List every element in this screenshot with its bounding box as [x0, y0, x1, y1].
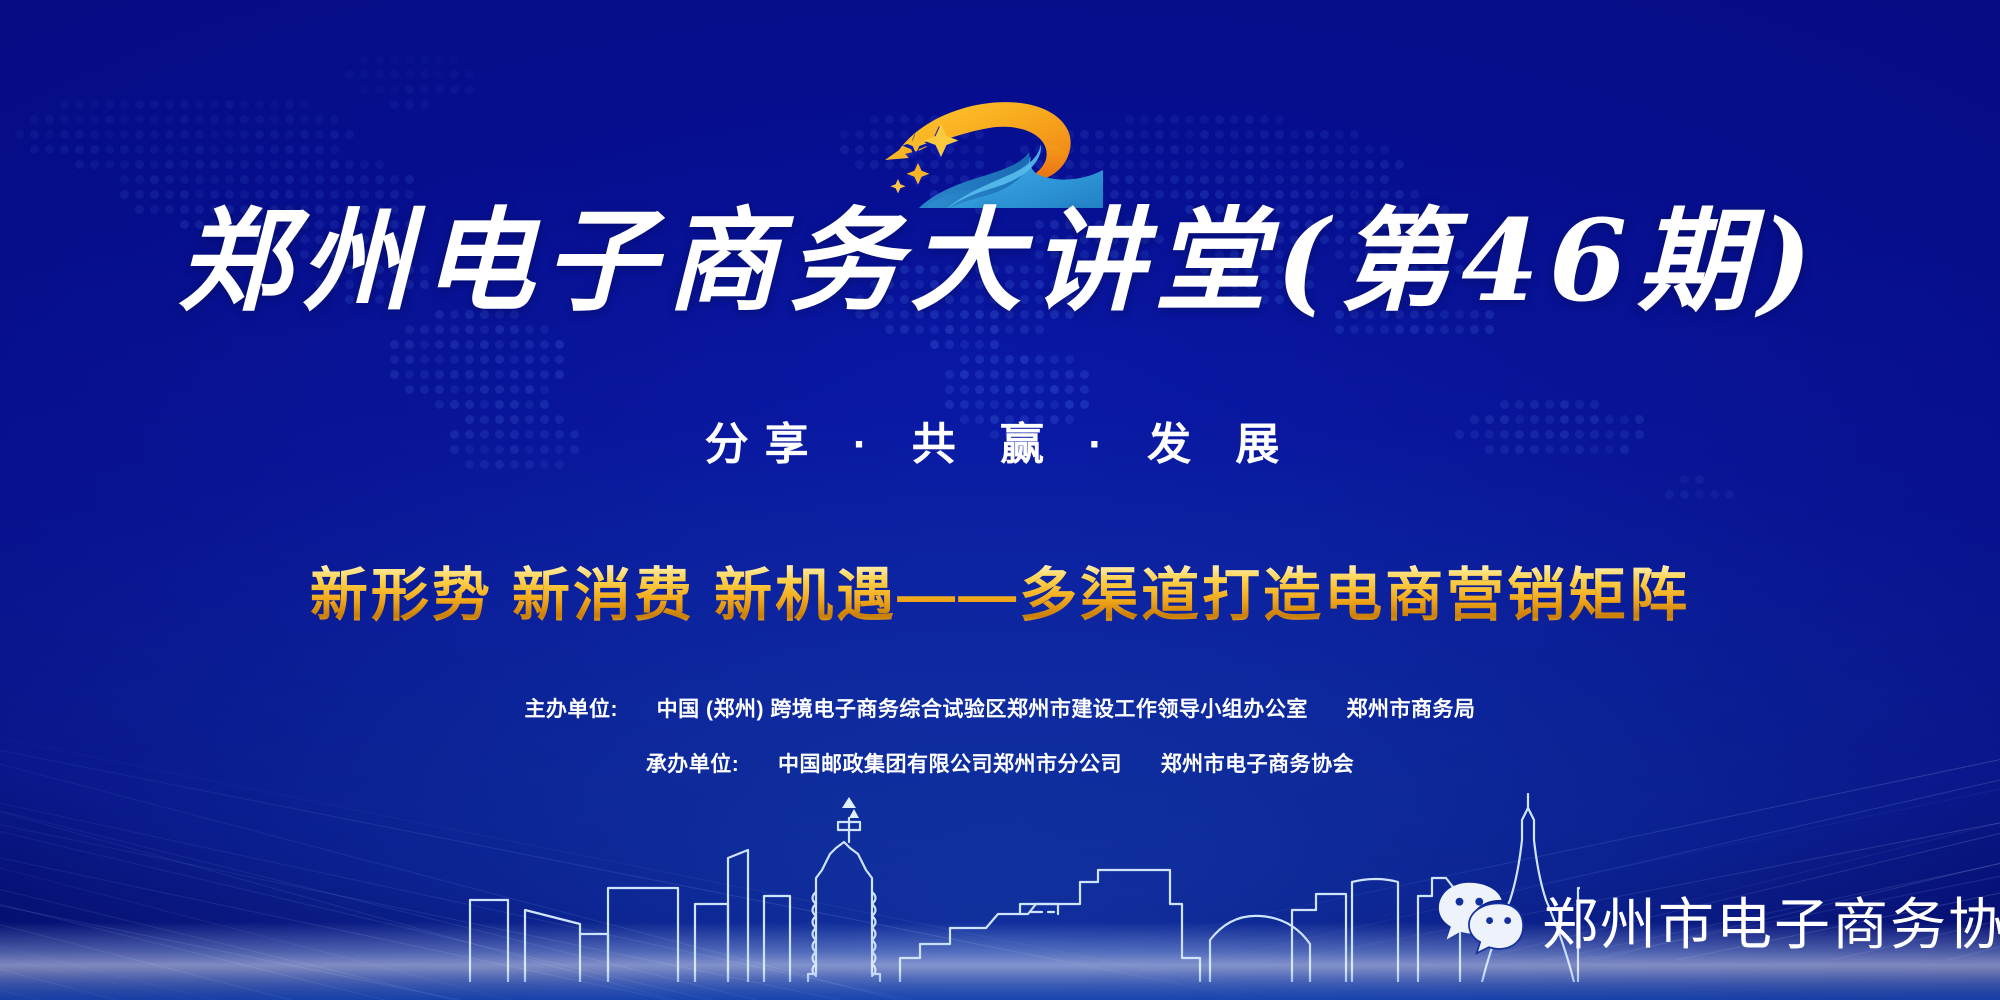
coorganizer-value-1: 中国邮政集团有限公司郑州市分公司	[778, 753, 1122, 776]
coorganizer-line: 承办单位: 中国邮政集团有限公司郑州市分公司 郑州市电子商务协会	[0, 748, 2000, 778]
coorganizer-value-2: 郑州市电子商务协会	[1161, 753, 1355, 776]
coorganizer-label: 承办单位:	[646, 753, 740, 776]
page-title: 郑州电子商务大讲堂(第46期)	[0, 196, 2000, 328]
host-label: 主办单位:	[524, 698, 618, 721]
wechat-account-name: 郑州市电子商务协会	[1542, 880, 2000, 961]
host-value-2: 郑州市商务局	[1347, 698, 1476, 721]
wechat-icon	[1438, 881, 1524, 960]
poster-headline: 新形势 新消费 新机遇——多渠道打造电商营销矩阵	[0, 548, 2000, 632]
host-value-1: 中国 (郑州) 跨境电子商务综合试验区郑州市建设工作领导小组办公室	[657, 698, 1308, 721]
ground-glow-bottom	[0, 970, 2000, 1000]
zhengzhou-ecommerce-logo	[865, 78, 1105, 208]
host-organizer-line: 主办单位: 中国 (郑州) 跨境电子商务综合试验区郑州市建设工作领导小组办公室 …	[0, 693, 2000, 723]
poster-canvas: 郑州电子商务大讲堂(第46期) 分享 · 共 赢 · 发 展 新形势 新消费 新…	[0, 0, 2000, 1000]
poster-headline-text: 新形势 新消费 新机遇——多渠道打造电商营销矩阵	[310, 563, 1690, 628]
poster-subtitle: 分享 · 共 赢 · 发 展	[0, 408, 2000, 472]
wechat-account-block[interactable]: 郑州市电子商务协会	[1438, 880, 2000, 961]
